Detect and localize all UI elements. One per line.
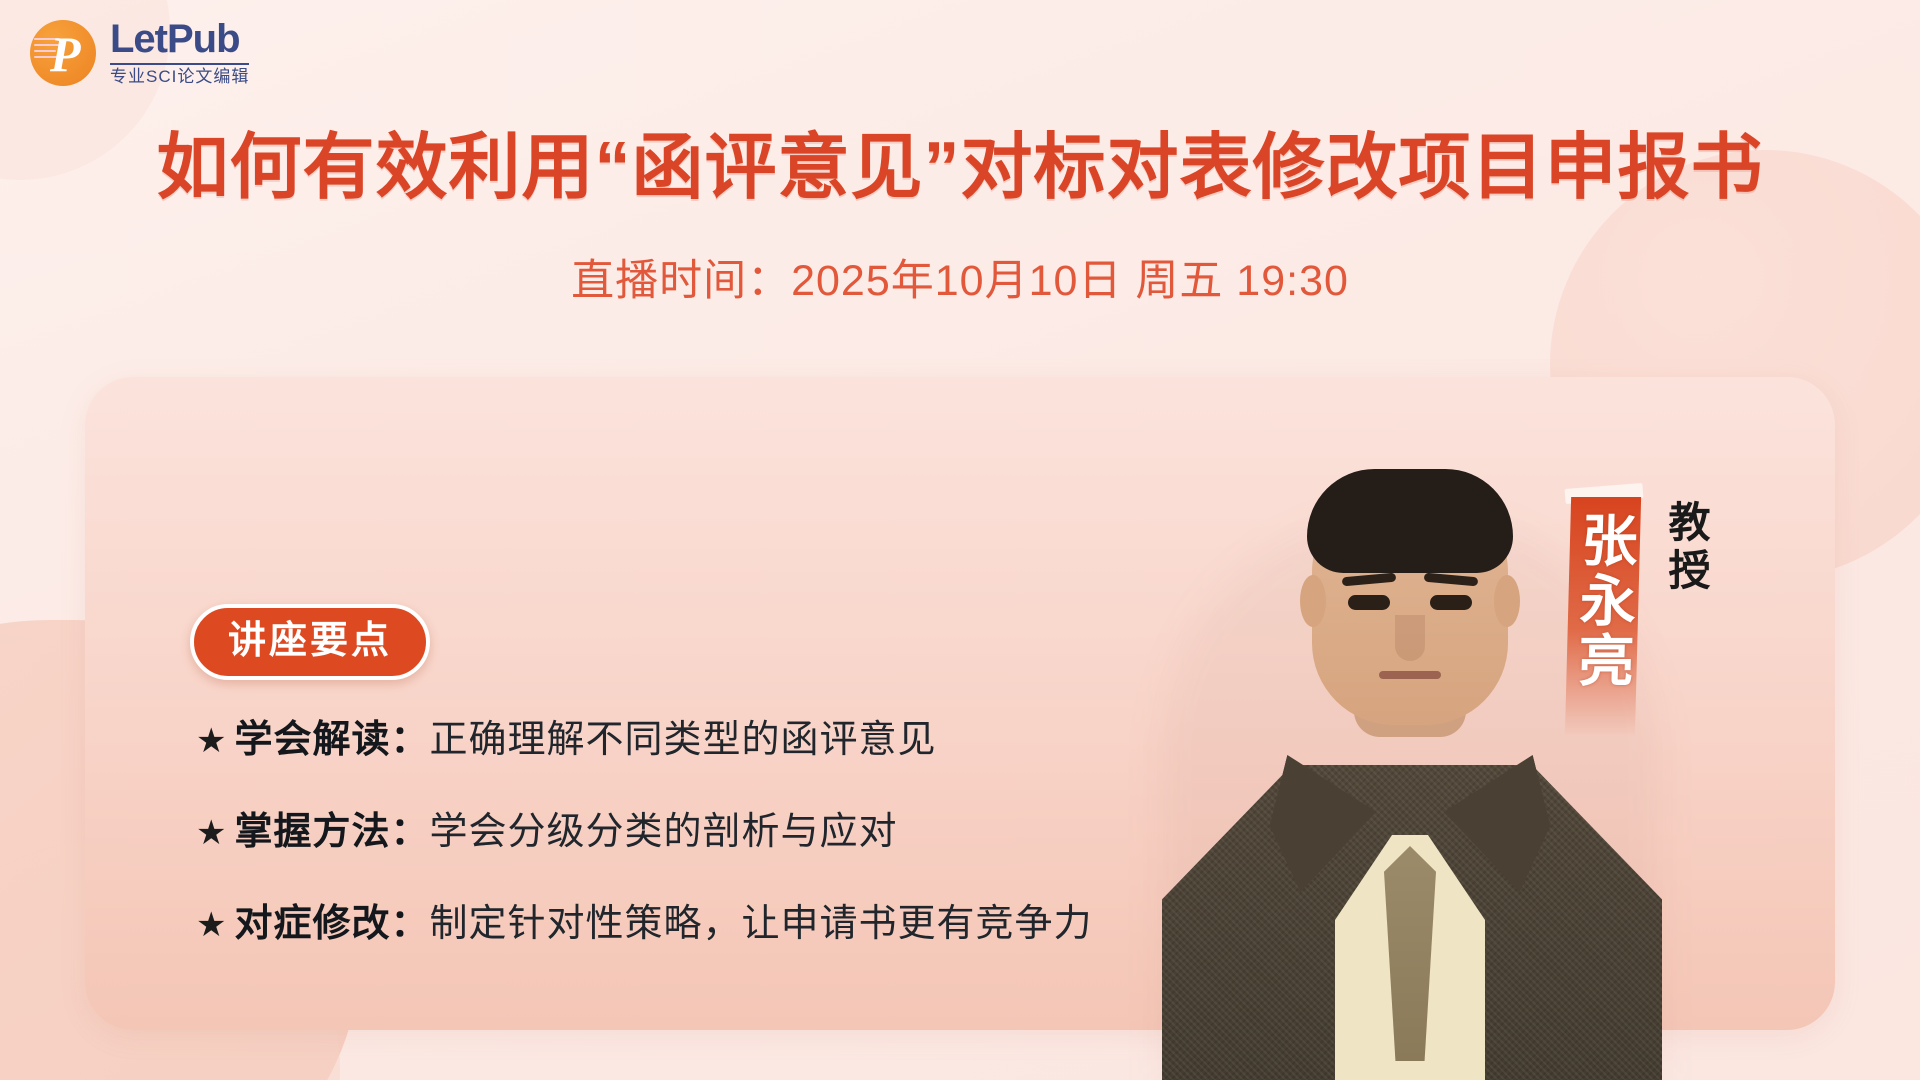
star-icon: ★ (196, 719, 226, 763)
star-icon: ★ (196, 811, 226, 855)
letpub-p-logo-icon: P (30, 20, 96, 86)
brand-divider (110, 63, 249, 65)
star-icon: ★ (196, 903, 226, 947)
speaker-name: 张永亮 (1566, 511, 1641, 691)
list-item-text: 学会分级分类的剖析与应对 (430, 808, 898, 856)
webinar-poster: P LetPub 专业SCI论文编辑 如何有效利用“函评意见”对标对表修改项目申… (0, 0, 1920, 1080)
live-time-subtitle: 直播时间：2025年10月10日 周五 19:30 (0, 255, 1920, 307)
list-item-text: 制定针对性策略，让申请书更有竞争力 (430, 900, 1093, 948)
list-item-text: 正确理解不同类型的函评意见 (430, 716, 937, 764)
speaker-name-banner: 张永亮 (1565, 497, 1641, 737)
brand-tagline: 专业SCI论文编辑 (110, 67, 249, 87)
list-item-label: 学会解读： (234, 716, 429, 764)
list-item-label: 对症修改： (234, 900, 429, 948)
brand-logo[interactable]: P LetPub 专业SCI论文编辑 (30, 18, 249, 87)
highlights-badge: 讲座要点 (190, 604, 430, 680)
brand-name: LetPub (110, 18, 249, 60)
logo-letter-p: P (50, 24, 81, 84)
page-title: 如何有效利用“函评意见”对标对表修改项目申报书 (0, 128, 1920, 208)
highlights-badge-label: 讲座要点 (228, 620, 392, 662)
speaker-title: 教授 (1650, 500, 1712, 596)
list-item-label: 掌握方法： (234, 808, 429, 856)
